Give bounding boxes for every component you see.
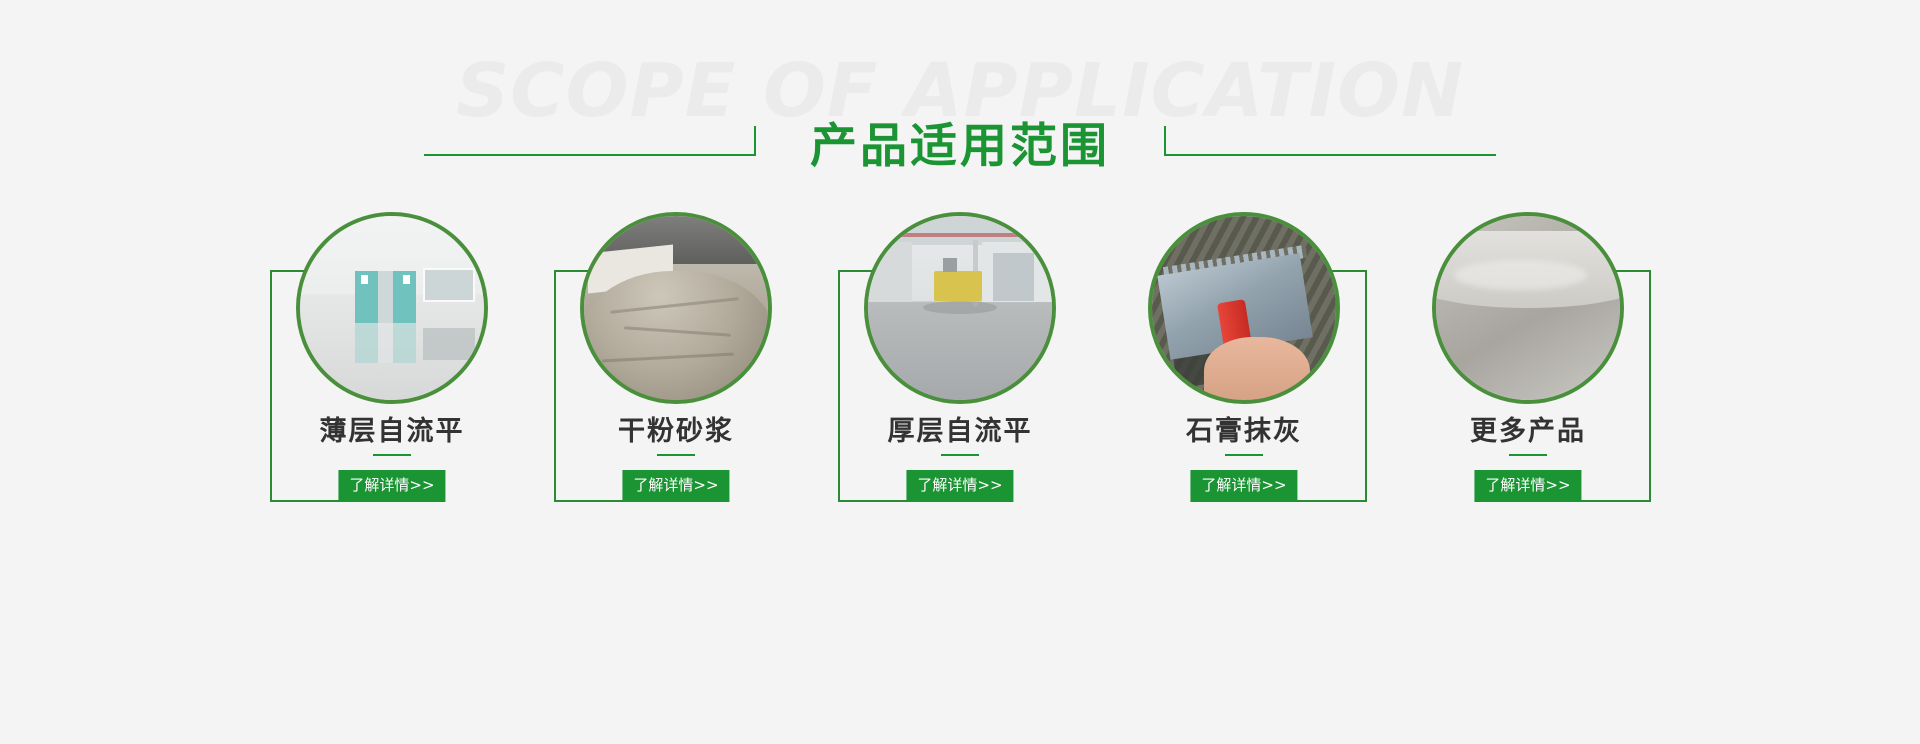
- learn-more-button[interactable]: 了解详情>>: [622, 470, 729, 502]
- application-card-more-products[interactable]: 更多产品 了解详情>>: [1406, 212, 1651, 512]
- learn-more-button[interactable]: 了解详情>>: [906, 470, 1013, 502]
- learn-more-button[interactable]: 了解详情>>: [1190, 470, 1297, 502]
- learn-more-button[interactable]: 了解详情>>: [1474, 470, 1581, 502]
- application-cards: 薄层自流平 了解详情>> 干粉砂浆 了解详情>>: [0, 212, 1920, 532]
- card-image-circle: [296, 212, 488, 404]
- title-underline: [657, 454, 695, 456]
- card-image-circle: [1432, 212, 1624, 404]
- application-card-thick-layer-self-leveling[interactable]: 厚层自流平 了解详情>>: [838, 212, 1083, 512]
- title-underline: [1225, 454, 1263, 456]
- more-products-smooth-surface-photo: [1436, 216, 1620, 400]
- divider-tick-right: [1164, 126, 1166, 156]
- card-title: 石膏抹灰: [1122, 417, 1367, 447]
- dry-powder-mortar-pile-photo: [584, 216, 768, 400]
- card-title: 厚层自流平: [838, 417, 1083, 447]
- title-row: 产品适用范围: [0, 117, 1920, 193]
- card-title: 干粉砂浆: [554, 417, 799, 447]
- title-underline: [1509, 454, 1547, 456]
- application-card-gypsum-plastering[interactable]: 石膏抹灰 了解详情>>: [1122, 212, 1367, 512]
- page-title: 产品适用范围: [756, 123, 1164, 170]
- divider-tick-left: [754, 126, 756, 156]
- title-underline: [941, 454, 979, 456]
- divider-line-right: [1164, 154, 1496, 156]
- card-title: 薄层自流平: [270, 417, 515, 447]
- title-underline: [373, 454, 411, 456]
- scope-of-application-section: SCOPE OF APPLICATION 产品适用范围 薄层自流平: [0, 0, 1920, 744]
- section-header: SCOPE OF APPLICATION 产品适用范围: [0, 0, 1920, 210]
- application-card-dry-powder-mortar[interactable]: 干粉砂浆 了解详情>>: [554, 212, 799, 512]
- thick-layer-self-leveling-warehouse-photo: [868, 216, 1052, 400]
- divider-line-left: [424, 154, 756, 156]
- application-card-thin-layer-self-leveling[interactable]: 薄层自流平 了解详情>>: [270, 212, 515, 512]
- card-image-circle: [580, 212, 772, 404]
- card-title: 更多产品: [1406, 417, 1651, 447]
- card-image-circle: [864, 212, 1056, 404]
- learn-more-button[interactable]: 了解详情>>: [338, 470, 445, 502]
- card-image-circle: [1148, 212, 1340, 404]
- gypsum-plastering-trowel-photo: [1152, 216, 1336, 400]
- thin-layer-self-leveling-floor-photo: [300, 216, 484, 400]
